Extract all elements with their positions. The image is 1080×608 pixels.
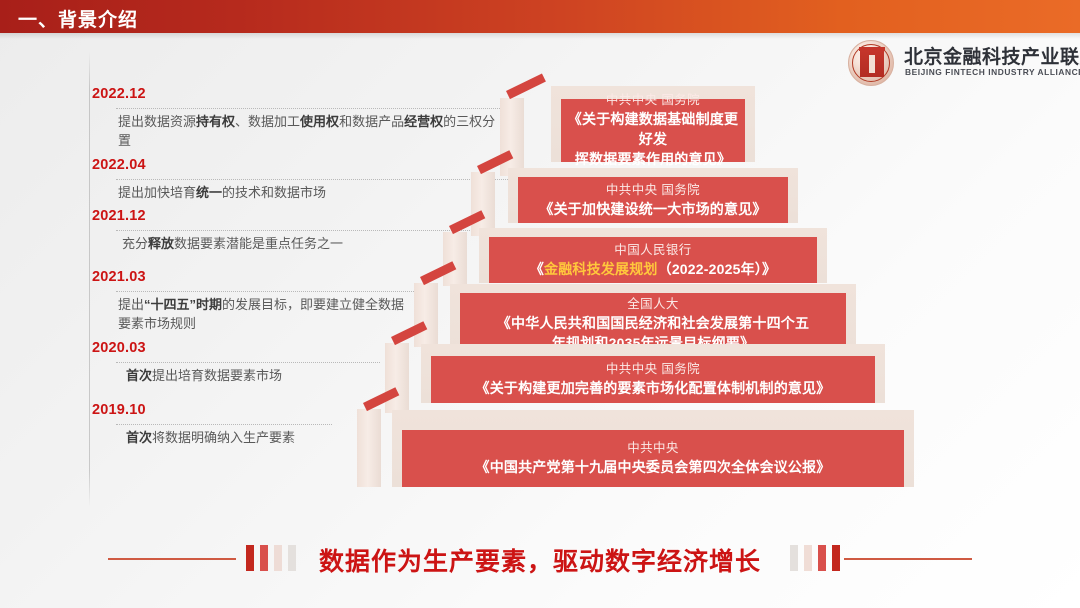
footer-bar	[804, 545, 812, 571]
step-doc: 《关于加快建设统一大市场的意见》	[539, 199, 766, 219]
step-org: 全国人大	[627, 296, 679, 313]
footer-slogan: 数据作为生产要素，驱动数字经济增长	[0, 542, 1080, 578]
footer-bar	[818, 545, 826, 571]
pyramid-step-4[interactable]: 中国人民银行 《金融科技发展规划（2022-2025年）》	[479, 228, 827, 283]
pyramid-step-2[interactable]: 中共中央 国务院 《关于构建更加完善的要素市场化配置体制机制的意见》	[421, 344, 885, 403]
footer-banner: 数据作为生产要素，驱动数字经济增长	[0, 534, 1080, 584]
pyramid-step-5[interactable]: 中共中央 国务院 《关于加快建设统一大市场的意见》	[508, 168, 798, 223]
step-face: 中共中央 国务院 《关于构建更加完善的要素市场化配置体制机制的意见》	[431, 356, 875, 403]
step-doc: 《金融科技发展规划（2022-2025年）》	[530, 259, 776, 279]
step-org: 中共中央 国务院	[606, 92, 700, 109]
step-doc: 《中国共产党第十九届中央委员会第四次全体会议公报》	[476, 457, 831, 477]
step-doc: 《关于构建更加完善的要素市场化配置体制机制的意见》	[476, 378, 831, 398]
footer-bars-right	[790, 545, 840, 571]
step-face: 中共中央 《中国共产党第十九届中央委员会第四次全体会议公报》	[402, 430, 904, 487]
step-face: 中共中央 国务院 《关于加快建设统一大市场的意见》	[518, 177, 788, 223]
step-org: 中共中央	[627, 440, 679, 457]
step-org: 中共中央 国务院	[606, 361, 700, 378]
pyramid-step-1[interactable]: 中共中央 《中国共产党第十九届中央委员会第四次全体会议公报》	[392, 410, 914, 487]
step-face: 中共中央 国务院 《关于构建数据基础制度更好发挥数据要素作用的意见》	[561, 99, 745, 162]
footer-bar	[832, 545, 840, 571]
step-doc: 《关于构建数据基础制度更好发挥数据要素作用的意见》	[561, 109, 745, 169]
policy-pyramid: 中共中央 国务院 《关于构建数据基础制度更好发挥数据要素作用的意见》 中共中央 …	[0, 0, 1080, 608]
step-org: 中共中央 国务院	[606, 182, 700, 199]
footer-bar	[790, 545, 798, 571]
pyramid-step-6[interactable]: 中共中央 国务院 《关于构建数据基础制度更好发挥数据要素作用的意见》	[551, 86, 755, 162]
step-org: 中国人民银行	[614, 242, 691, 259]
step-face: 中国人民银行 《金融科技发展规划（2022-2025年）》	[489, 237, 817, 283]
footer-rule-right	[844, 558, 972, 560]
